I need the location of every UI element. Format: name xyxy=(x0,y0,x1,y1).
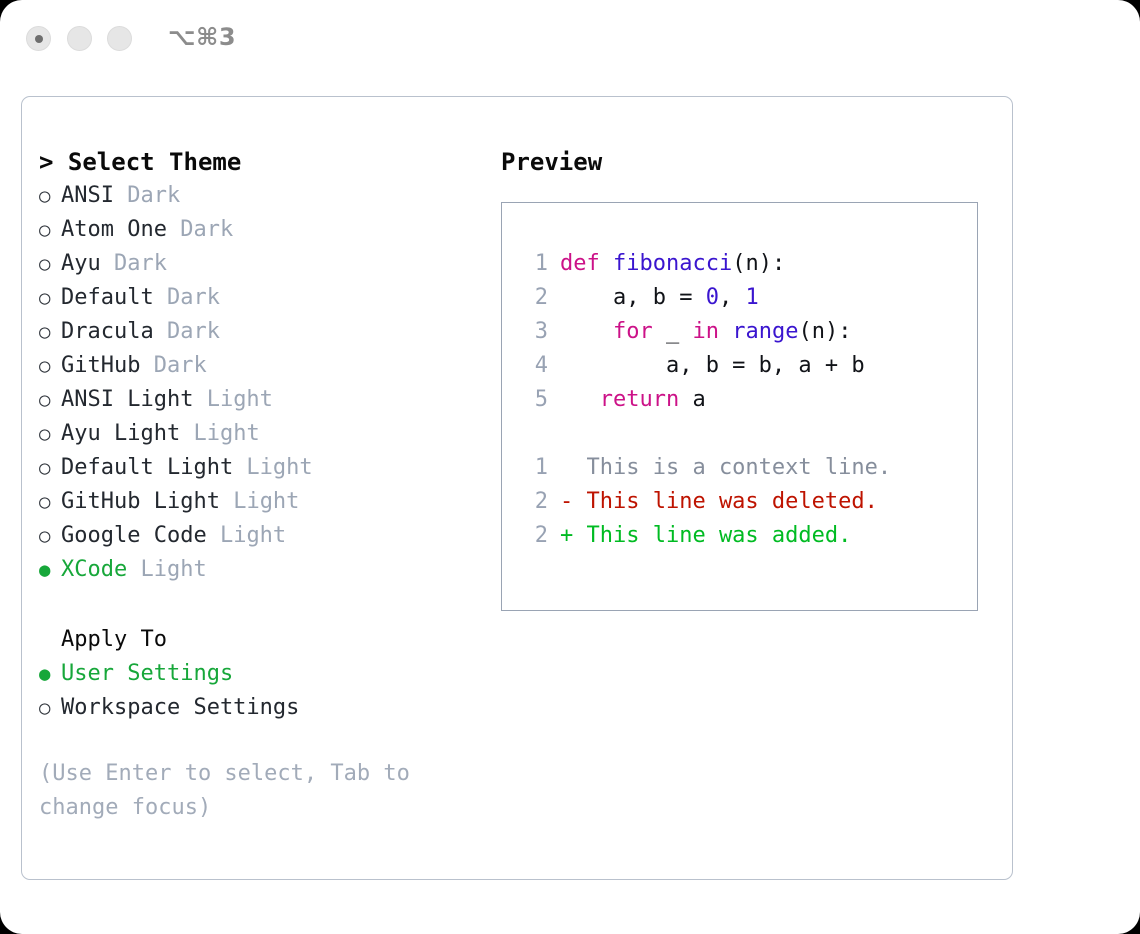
themes-item-kind: Light xyxy=(180,421,259,446)
themes-item[interactable]: ○Google Code Light xyxy=(39,519,469,553)
code-token-fn: fibonacci xyxy=(613,251,732,276)
themes-item-label: Default Light xyxy=(61,455,233,480)
code-token-kw: in xyxy=(692,319,719,344)
themes-item-label: Ayu Light xyxy=(61,421,180,446)
radio-unselected-icon: ○ xyxy=(39,519,61,553)
themes-item-kind: Light xyxy=(207,523,286,548)
themes-item[interactable]: ○Ayu Dark xyxy=(39,247,469,281)
diff-line-number: 2 xyxy=(520,519,548,553)
themes-item-kind: Dark xyxy=(140,353,206,378)
radio-unselected-icon: ○ xyxy=(39,247,61,281)
code-token-plain: (n): xyxy=(798,319,851,344)
code-token-plain: _ xyxy=(653,319,693,344)
preview-box: 1def fibonacci(n):2 a, b = 0, 13 for _ i… xyxy=(501,202,978,611)
themes-item-kind: Light xyxy=(127,557,206,582)
themes-item-label: Ayu xyxy=(61,251,101,276)
diff-line-number: 1 xyxy=(520,451,548,485)
radio-unselected-icon: ○ xyxy=(39,485,61,519)
apply_to-item-label: Workspace Settings xyxy=(61,695,299,720)
radio-unselected-icon: ○ xyxy=(39,451,61,485)
themes-item-label: Default xyxy=(61,285,154,310)
themes-item-kind: Dark xyxy=(101,251,167,276)
diff-line: 2- This line was deleted. xyxy=(520,485,969,519)
themes-item-kind: Light xyxy=(233,455,312,480)
themes-item-kind: Dark xyxy=(114,183,180,208)
themes-item[interactable]: ○GitHub Dark xyxy=(39,349,469,383)
diff-line-text-ctx: This is a context line. xyxy=(560,455,891,480)
radio-unselected-icon: ○ xyxy=(39,691,61,725)
line-number: 3 xyxy=(520,315,548,349)
diff-line: 2+ This line was added. xyxy=(520,519,969,553)
themes-item-label: Atom One xyxy=(61,217,167,242)
preview-column: Preview 1def fibonacci(n):2 a, b = 0, 13… xyxy=(501,145,991,611)
code-line: 4 a, b = b, a + b xyxy=(520,349,969,383)
line-number: 2 xyxy=(520,281,548,315)
themes-item[interactable]: ○Default Dark xyxy=(39,281,469,315)
diff-line: 1 This is a context line. xyxy=(520,451,969,485)
code-sample: 1def fibonacci(n):2 a, b = 0, 13 for _ i… xyxy=(520,247,969,417)
themes-item[interactable]: ○ANSI Dark xyxy=(39,179,469,213)
radio-unselected-icon: ○ xyxy=(39,281,61,315)
code-token-kw: def xyxy=(560,251,613,276)
themes-item-kind: Dark xyxy=(167,217,233,242)
code-token-kw: return xyxy=(600,387,679,412)
radio-unselected-icon: ○ xyxy=(39,315,61,349)
radio-selected-icon: ● xyxy=(39,657,61,691)
radio-unselected-icon: ○ xyxy=(39,417,61,451)
keyboard-hint-text: (Use Enter to select, Tab to change focu… xyxy=(39,757,439,825)
themes-item[interactable]: ○Default Light Light xyxy=(39,451,469,485)
theme-selection-column: > Select Theme ○ANSI Dark○Atom One Dark○… xyxy=(39,145,469,825)
themes-item-kind: Dark xyxy=(154,285,220,310)
code-preview-area: 1def fibonacci(n):2 a, b = 0, 13 for _ i… xyxy=(520,247,969,553)
line-number: 1 xyxy=(520,247,548,281)
app-window: ⌥⌘3 > Select Theme ○ANSI Dark○Atom One D… xyxy=(0,0,1140,934)
radio-unselected-icon: ○ xyxy=(39,349,61,383)
themes-item[interactable]: ○ANSI Light Light xyxy=(39,383,469,417)
code-token-num: 0 xyxy=(706,285,719,310)
theme-list: ○ANSI Dark○Atom One Dark○Ayu Dark○Defaul… xyxy=(39,179,469,587)
themes-item[interactable]: ○Ayu Light Light xyxy=(39,417,469,451)
code-line: 1def fibonacci(n): xyxy=(520,247,969,281)
theme-list-header: > Select Theme xyxy=(39,145,469,179)
radio-unselected-icon: ○ xyxy=(39,213,61,247)
diff-line-number: 2 xyxy=(520,485,548,519)
themes-item[interactable]: ●XCode Light xyxy=(39,553,469,587)
code-token-fn: range xyxy=(732,319,798,344)
code-line: 3 for _ in range(n): xyxy=(520,315,969,349)
preview-header: Preview xyxy=(501,145,991,179)
themes-item[interactable]: ○Atom One Dark xyxy=(39,213,469,247)
code-token-num: 1 xyxy=(745,285,758,310)
themes-item-kind: Dark xyxy=(154,319,220,344)
themes-item[interactable]: ○GitHub Light Light xyxy=(39,485,469,519)
themes-item-kind: Light xyxy=(193,387,272,412)
themes-item-label: Dracula xyxy=(61,319,154,344)
apply_to-item-label: User Settings xyxy=(61,661,233,686)
window-dot-2-icon[interactable] xyxy=(67,26,92,51)
line-number: 5 xyxy=(520,383,548,417)
main-panel: > Select Theme ○ANSI Dark○Atom One Dark○… xyxy=(21,96,1013,880)
apply-to-header: Apply To xyxy=(39,623,469,657)
apply-to-list: ●User Settings○Workspace Settings xyxy=(39,657,469,725)
window-dot-3-icon[interactable] xyxy=(107,26,132,51)
window-dot-active-icon[interactable] xyxy=(26,26,51,51)
apply_to-item[interactable]: ●User Settings xyxy=(39,657,469,691)
code-token-plain: , xyxy=(719,285,746,310)
themes-item-label: GitHub Light xyxy=(61,489,220,514)
titlebar: ⌥⌘3 xyxy=(0,0,1140,80)
code-line: 2 a, b = 0, 1 xyxy=(520,281,969,315)
themes-item-label: Google Code xyxy=(61,523,207,548)
code-token-plain xyxy=(560,387,600,412)
themes-item-label: GitHub xyxy=(61,353,140,378)
radio-selected-icon: ● xyxy=(39,553,61,587)
themes-item[interactable]: ○Dracula Dark xyxy=(39,315,469,349)
line-number: 4 xyxy=(520,349,548,383)
themes-item-label: ANSI xyxy=(61,183,114,208)
window-dot-inner-icon xyxy=(35,35,43,43)
radio-unselected-icon: ○ xyxy=(39,383,61,417)
diff-line-text-add: + This line was added. xyxy=(560,523,851,548)
themes-item-kind: Light xyxy=(220,489,299,514)
apply_to-item[interactable]: ○Workspace Settings xyxy=(39,691,469,725)
code-token-plain: a xyxy=(679,387,706,412)
code-token-plain: (n): xyxy=(732,251,785,276)
diff-line-text-del: - This line was deleted. xyxy=(560,489,878,514)
radio-unselected-icon: ○ xyxy=(39,179,61,213)
code-token-plain xyxy=(719,319,732,344)
code-line: 5 return a xyxy=(520,383,969,417)
themes-item-label: ANSI Light xyxy=(61,387,193,412)
code-token-kw: for xyxy=(613,319,653,344)
code-token-plain xyxy=(560,319,613,344)
code-token-plain: a, b = xyxy=(560,285,706,310)
themes-item-label: XCode xyxy=(61,557,127,582)
code-token-plain: a, b = b, a + b xyxy=(560,353,865,378)
keyboard-shortcut-label: ⌥⌘3 xyxy=(168,23,236,51)
diff-sample: 1 This is a context line.2- This line wa… xyxy=(520,451,969,553)
apply-to-section: Apply To ●User Settings○Workspace Settin… xyxy=(39,623,469,725)
